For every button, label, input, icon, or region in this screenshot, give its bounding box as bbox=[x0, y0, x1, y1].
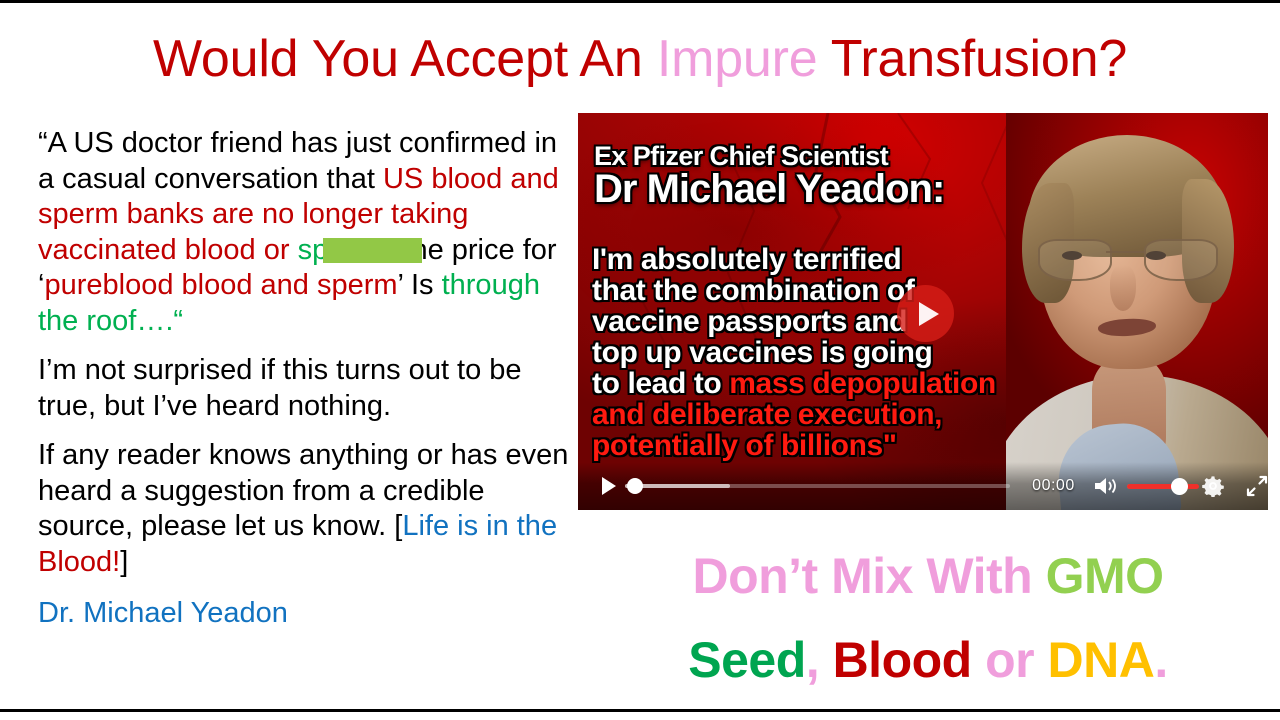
portrait-nose bbox=[1110, 265, 1136, 311]
play-button[interactable] bbox=[596, 471, 621, 501]
title-part-1: Would You Accept An bbox=[153, 30, 657, 88]
quote-segment-ellipsis: ….“ bbox=[136, 305, 183, 337]
tagline-block: Don’t Mix With GMO Seed, Blood or DNA. bbox=[578, 534, 1278, 702]
left-text-column: “A US doctor friend has just confirmed i… bbox=[38, 126, 574, 631]
quote-line-5-plain: to lead to bbox=[592, 367, 729, 400]
quote-segment-pureblood: pureblood blood and sperm bbox=[44, 269, 397, 301]
thumbnail-quote-line-3: vaccine passports and bbox=[592, 305, 907, 339]
page-title: Would You Accept An Impure Transfusion? bbox=[0, 28, 1280, 90]
title-highlight-impure: Impure bbox=[657, 30, 818, 88]
reader-segment-life-is-in-the: Life is in the bbox=[402, 510, 557, 542]
tagline-line-1: Don’t Mix With GMO bbox=[578, 534, 1278, 618]
reader-segment-blood: Blood! bbox=[38, 546, 120, 578]
tagline-gmo: GMO bbox=[1046, 548, 1164, 604]
expand-icon[interactable] bbox=[1246, 475, 1268, 497]
paragraph-not-surprised: I’m not surprised if this turns out to b… bbox=[38, 353, 574, 424]
time-display: 00:00 bbox=[1032, 477, 1075, 495]
tagline-or: or bbox=[972, 632, 1048, 688]
play-button-overlay[interactable] bbox=[897, 285, 954, 342]
volume-slider[interactable] bbox=[1127, 484, 1180, 489]
reader-segment-close-bracket: ] bbox=[120, 546, 128, 578]
tagline-line-2: Seed, Blood or DNA. bbox=[578, 618, 1278, 702]
tagline-comma: , bbox=[806, 632, 833, 688]
byline-author: Dr. Michael Yeadon bbox=[38, 596, 574, 631]
thumbnail-quote-line-6: and deliberate execution, bbox=[592, 398, 942, 432]
play-icon bbox=[602, 477, 616, 495]
gear-icon[interactable] bbox=[1202, 475, 1224, 497]
tagline-dont-mix-with: Don’t Mix With bbox=[692, 548, 1045, 604]
thumbnail-quote-line-2: that the combination of bbox=[592, 274, 914, 308]
title-part-2: Transfusion? bbox=[817, 30, 1127, 88]
thumbnail-quote-line-1: I'm absolutely terrified bbox=[592, 243, 901, 277]
tagline-period: . bbox=[1154, 632, 1167, 688]
volume-high-icon[interactable] bbox=[1093, 475, 1119, 497]
eyeglass-bridge bbox=[1106, 251, 1146, 253]
slide-top-border bbox=[0, 0, 1280, 3]
quote-segment-blood-or: ed blood or bbox=[144, 234, 297, 266]
tagline-seed: Seed bbox=[688, 632, 806, 688]
speaker-portrait bbox=[1006, 113, 1268, 510]
quote-paragraph: “A US doctor friend has just confirmed i… bbox=[38, 126, 574, 339]
slide-canvas: Would You Accept An Impure Transfusion? … bbox=[0, 0, 1280, 720]
progress-knob[interactable] bbox=[627, 478, 643, 494]
volume-knob[interactable] bbox=[1171, 478, 1188, 495]
thumbnail-quote-line-5: to lead to mass depopulation bbox=[592, 367, 996, 401]
paragraph-if-any-reader: If any reader knows anything or has even… bbox=[38, 438, 574, 580]
quote-line-5-accent: mass depopulation bbox=[729, 367, 996, 400]
tagline-blood: Blood bbox=[833, 632, 972, 688]
tagline-dna: DNA bbox=[1048, 632, 1155, 688]
video-control-bar: 00:00 bbox=[578, 462, 1268, 510]
quote-segment-is: ’ Is bbox=[398, 269, 442, 301]
thumbnail-quote-line-4: top up vaccines is going bbox=[592, 336, 932, 370]
progress-slider[interactable] bbox=[625, 484, 1010, 488]
quote-segment-redacted-word: ccinat bbox=[69, 234, 145, 266]
eyeglass-lens-left bbox=[1038, 239, 1112, 281]
thumbnail-quote-line-7: potentially of billions" bbox=[592, 429, 897, 463]
play-triangle-icon bbox=[919, 302, 939, 326]
video-player[interactable]: Ex Pfizer Chief Scientist Dr Michael Yea… bbox=[578, 113, 1268, 510]
slide-bottom-border bbox=[0, 709, 1280, 712]
thumbnail-speaker-name: Dr Michael Yeadon: bbox=[594, 167, 944, 212]
green-redaction-box bbox=[323, 238, 422, 263]
eyeglass-lens-right bbox=[1144, 239, 1218, 281]
